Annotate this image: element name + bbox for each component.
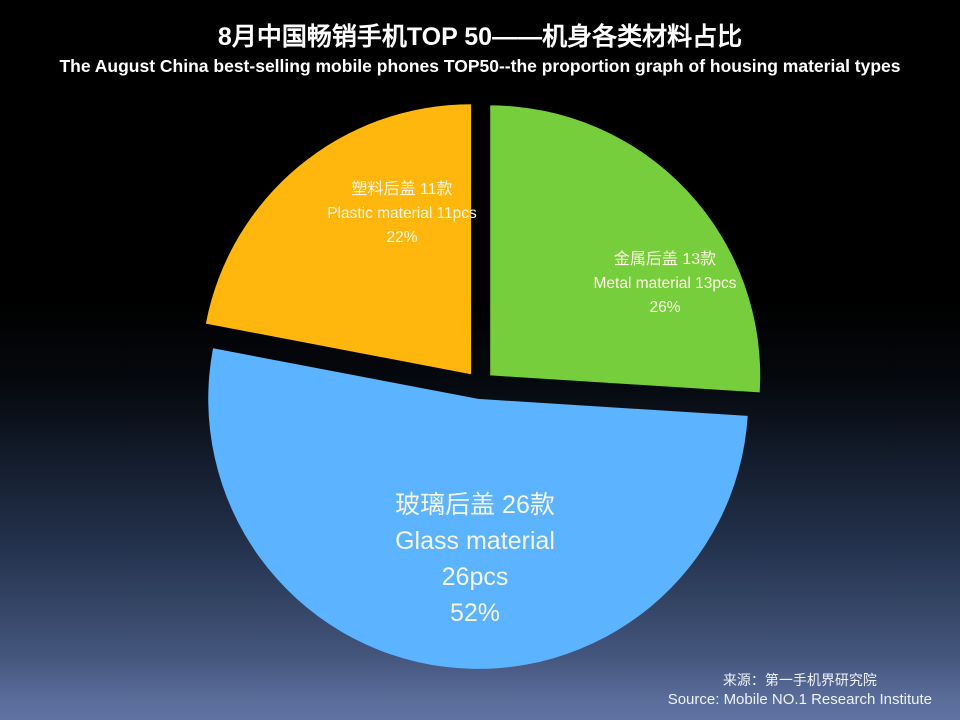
slide-canvas: 8月中国畅销手机TOP 50——机身各类材料占比 The August Chin… [0, 0, 960, 720]
page-title: 8月中国畅销手机TOP 50——机身各类材料占比 [0, 22, 960, 52]
source-block: 来源：第一手机界研究院 Source: Mobile NO.1 Research… [668, 670, 932, 710]
page-subtitle: The August China best-selling mobile pho… [0, 55, 960, 77]
pie-slice-glass[interactable] [208, 348, 747, 669]
pie-slice-metal[interactable] [490, 105, 760, 392]
source-line-cn: 来源：第一手机界研究院 [668, 670, 932, 690]
pie-slice-plastic[interactable] [206, 104, 471, 374]
title-block: 8月中国畅销手机TOP 50——机身各类材料占比 The August Chin… [0, 22, 960, 77]
pie-chart-svg [0, 0, 960, 720]
source-line-en: Source: Mobile NO.1 Research Institute [668, 690, 932, 710]
pie-chart [0, 0, 960, 720]
